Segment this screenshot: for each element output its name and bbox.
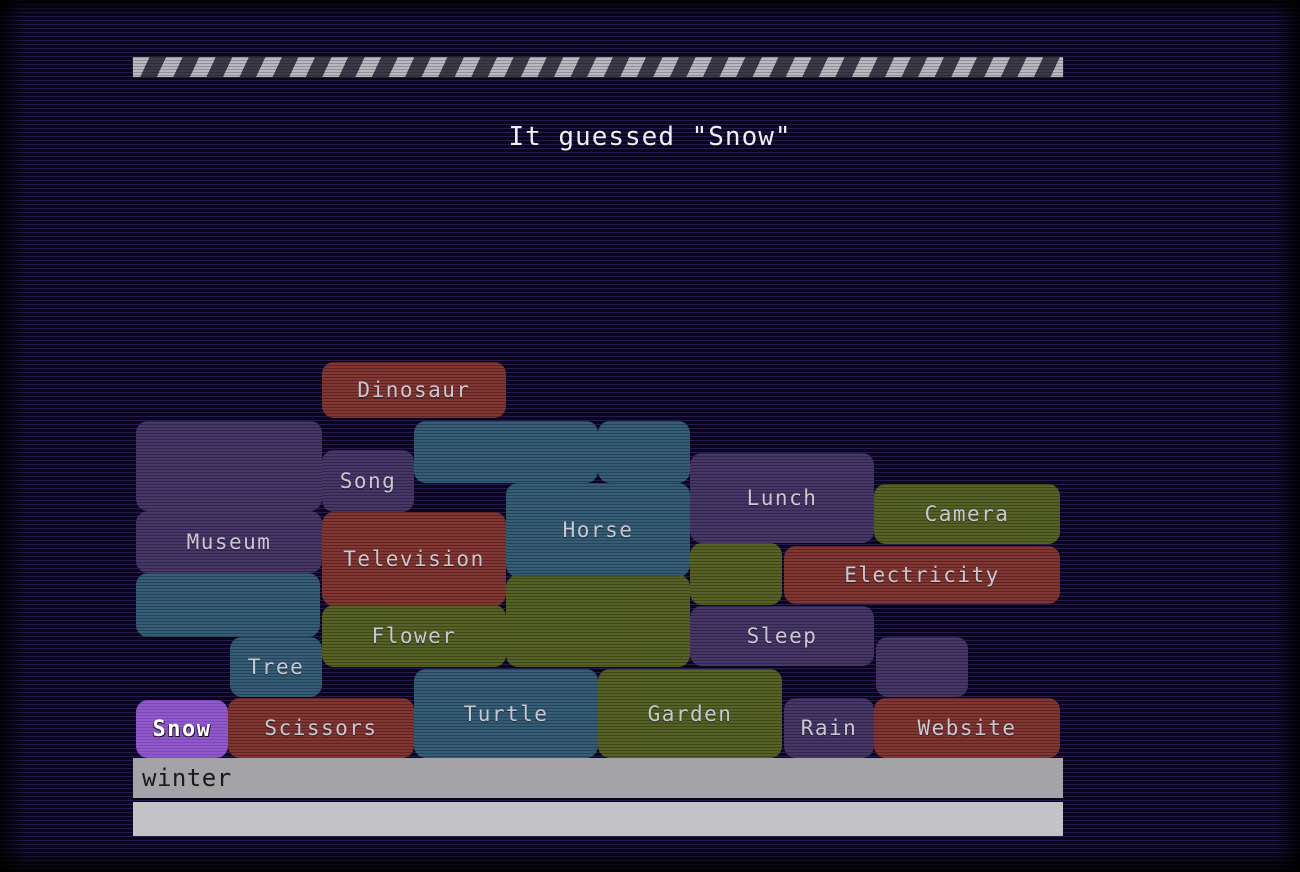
word-block-sleep[interactable]: Sleep bbox=[690, 606, 874, 666]
word-block-label: Turtle bbox=[464, 702, 549, 726]
word-block-label: Song bbox=[340, 469, 397, 493]
word-block-garden[interactable]: Garden bbox=[598, 669, 782, 758]
word-block-tree[interactable]: Tree bbox=[230, 637, 322, 697]
word-block-label: Sleep bbox=[747, 624, 818, 648]
word-block-label: Horse bbox=[563, 518, 634, 542]
word-block-label: Scissors bbox=[264, 716, 377, 740]
word-block-label: Garden bbox=[648, 702, 733, 726]
word-block-turtle[interactable]: Turtle bbox=[414, 669, 598, 758]
word-block-label: Rain bbox=[801, 716, 858, 740]
word-block-label: Museum bbox=[187, 530, 272, 554]
word-block-camera[interactable]: Camera bbox=[874, 484, 1060, 544]
word-block-label: Website bbox=[917, 716, 1016, 740]
word-block-label: Camera bbox=[925, 502, 1010, 526]
word-block-museum[interactable]: Museum bbox=[136, 511, 322, 573]
word-block-blank[interactable] bbox=[136, 421, 322, 511]
word-block-blank[interactable] bbox=[506, 575, 690, 667]
status-message: It guessed "Snow" bbox=[0, 122, 1300, 152]
word-block-blank[interactable] bbox=[690, 543, 782, 605]
word-block-snow[interactable]: Snow bbox=[136, 700, 228, 758]
word-block-dinosaur[interactable]: Dinosaur bbox=[322, 362, 506, 418]
guess-input-area[interactable]: winter bbox=[133, 758, 1063, 836]
word-block-scissors[interactable]: Scissors bbox=[228, 698, 414, 758]
word-block-label: Lunch bbox=[747, 486, 818, 510]
game-screen: It guessed "Snow" DinosaurSongMuseumTele… bbox=[0, 0, 1300, 872]
word-block-website[interactable]: Website bbox=[874, 698, 1060, 758]
word-block-label: Flower bbox=[372, 624, 457, 648]
word-block-label: Television bbox=[343, 547, 484, 571]
word-block-electricity[interactable]: Electricity bbox=[784, 546, 1060, 604]
guess-input-tray bbox=[133, 802, 1063, 836]
word-block-label: Dinosaur bbox=[357, 378, 470, 402]
word-block-blank[interactable] bbox=[598, 421, 690, 483]
guess-input-value: winter bbox=[142, 764, 232, 792]
word-block-blank[interactable] bbox=[414, 421, 598, 483]
word-block-rain[interactable]: Rain bbox=[784, 698, 874, 758]
word-block-label: Snow bbox=[153, 717, 212, 742]
guess-input-field[interactable]: winter bbox=[133, 758, 1063, 798]
word-block-blank[interactable] bbox=[876, 637, 968, 697]
word-block-television[interactable]: Television bbox=[322, 512, 506, 606]
word-block-lunch[interactable]: Lunch bbox=[690, 453, 874, 543]
word-block-label: Tree bbox=[248, 655, 305, 679]
word-block-song[interactable]: Song bbox=[322, 450, 414, 512]
word-block-label: Electricity bbox=[844, 563, 1000, 587]
word-block-flower[interactable]: Flower bbox=[322, 605, 506, 667]
word-block-horse[interactable]: Horse bbox=[506, 483, 690, 577]
word-block-blank[interactable] bbox=[136, 573, 320, 637]
